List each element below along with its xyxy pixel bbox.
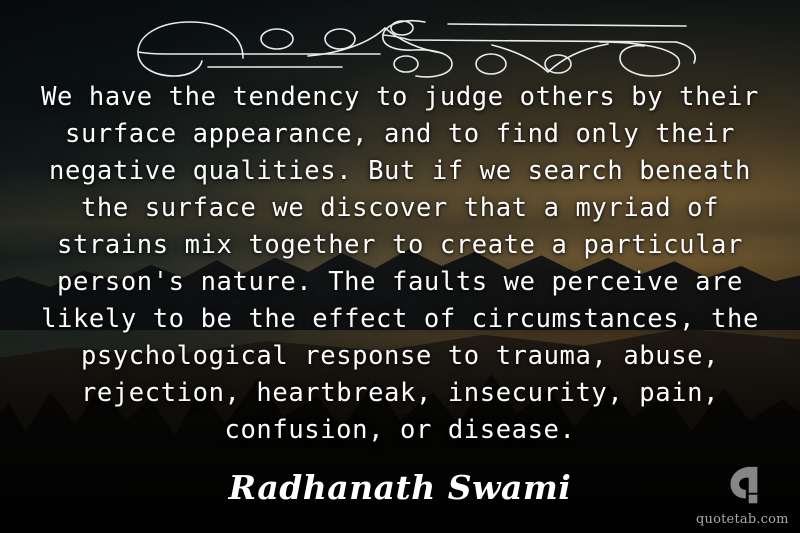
quote-text: We have the tendency to judge others by …: [36, 79, 764, 449]
quotetab-q-logo-icon: [719, 464, 765, 510]
quote-content: We have the tendency to judge others by …: [0, 0, 800, 533]
watermark-site-label: quotetab.com: [696, 512, 788, 527]
quote-author: Radhanath Swami: [0, 468, 800, 507]
watermark[interactable]: quotetab.com: [696, 464, 788, 527]
flourish-divider-icon: [80, 6, 720, 78]
quote-image: We have the tendency to judge others by …: [0, 0, 800, 533]
